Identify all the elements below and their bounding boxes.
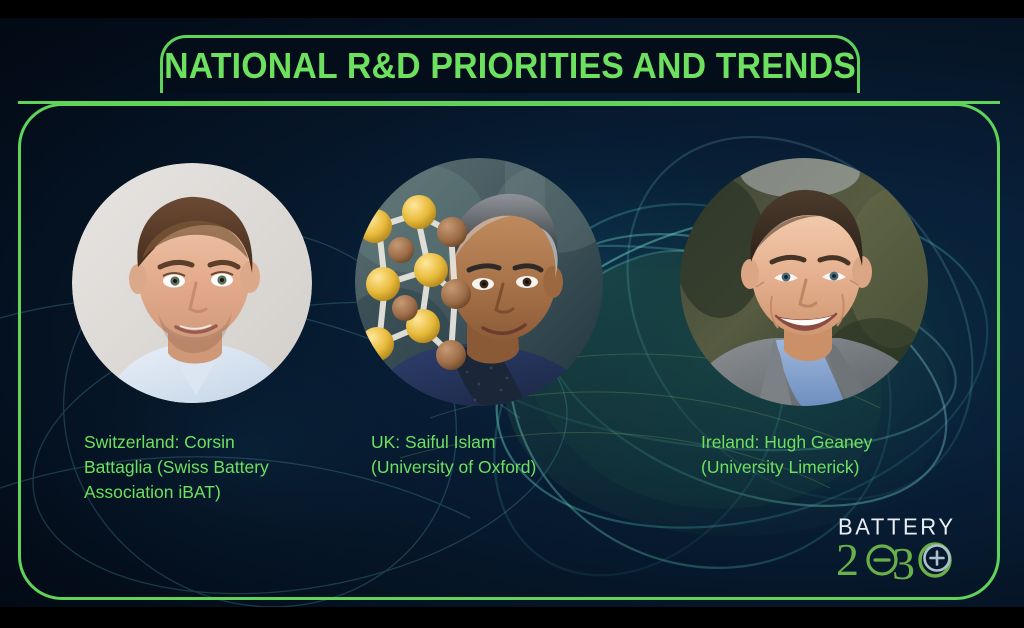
logo-wordmark: BATTERY [838, 515, 958, 538]
caption-ireland: Ireland: Hugh Geaney (University Limeric… [701, 430, 941, 480]
portrait-corsin-battaglia [72, 163, 312, 403]
title-plaque: NATIONAL R&D PRIORITIES AND TRENDS [160, 35, 860, 93]
caption-uk: UK: Saiful Islam (University of Oxford) [371, 430, 601, 480]
battery-2030-logo: BATTERY 2 3 [838, 516, 958, 580]
letterbox-bar-top [0, 0, 1024, 18]
logo-year-mark: 2 3 [838, 539, 958, 581]
svg-text:2: 2 [838, 539, 859, 581]
portrait-hugh-geaney [680, 158, 928, 406]
portrait-saiful-islam [355, 158, 603, 406]
page-title: NATIONAL R&D PRIORITIES AND TRENDS [164, 45, 856, 87]
frame-top-rule [18, 101, 1000, 104]
caption-switzerland: Switzerland: Corsin Battaglia (Swiss Bat… [84, 430, 299, 505]
slide: Switzerland: Corsin Battaglia (Swiss Bat… [0, 0, 1024, 628]
letterbox-bar-bottom [0, 607, 1024, 628]
plus-circle-icon [925, 546, 950, 571]
slide-background: Switzerland: Corsin Battaglia (Swiss Bat… [0, 18, 1024, 607]
